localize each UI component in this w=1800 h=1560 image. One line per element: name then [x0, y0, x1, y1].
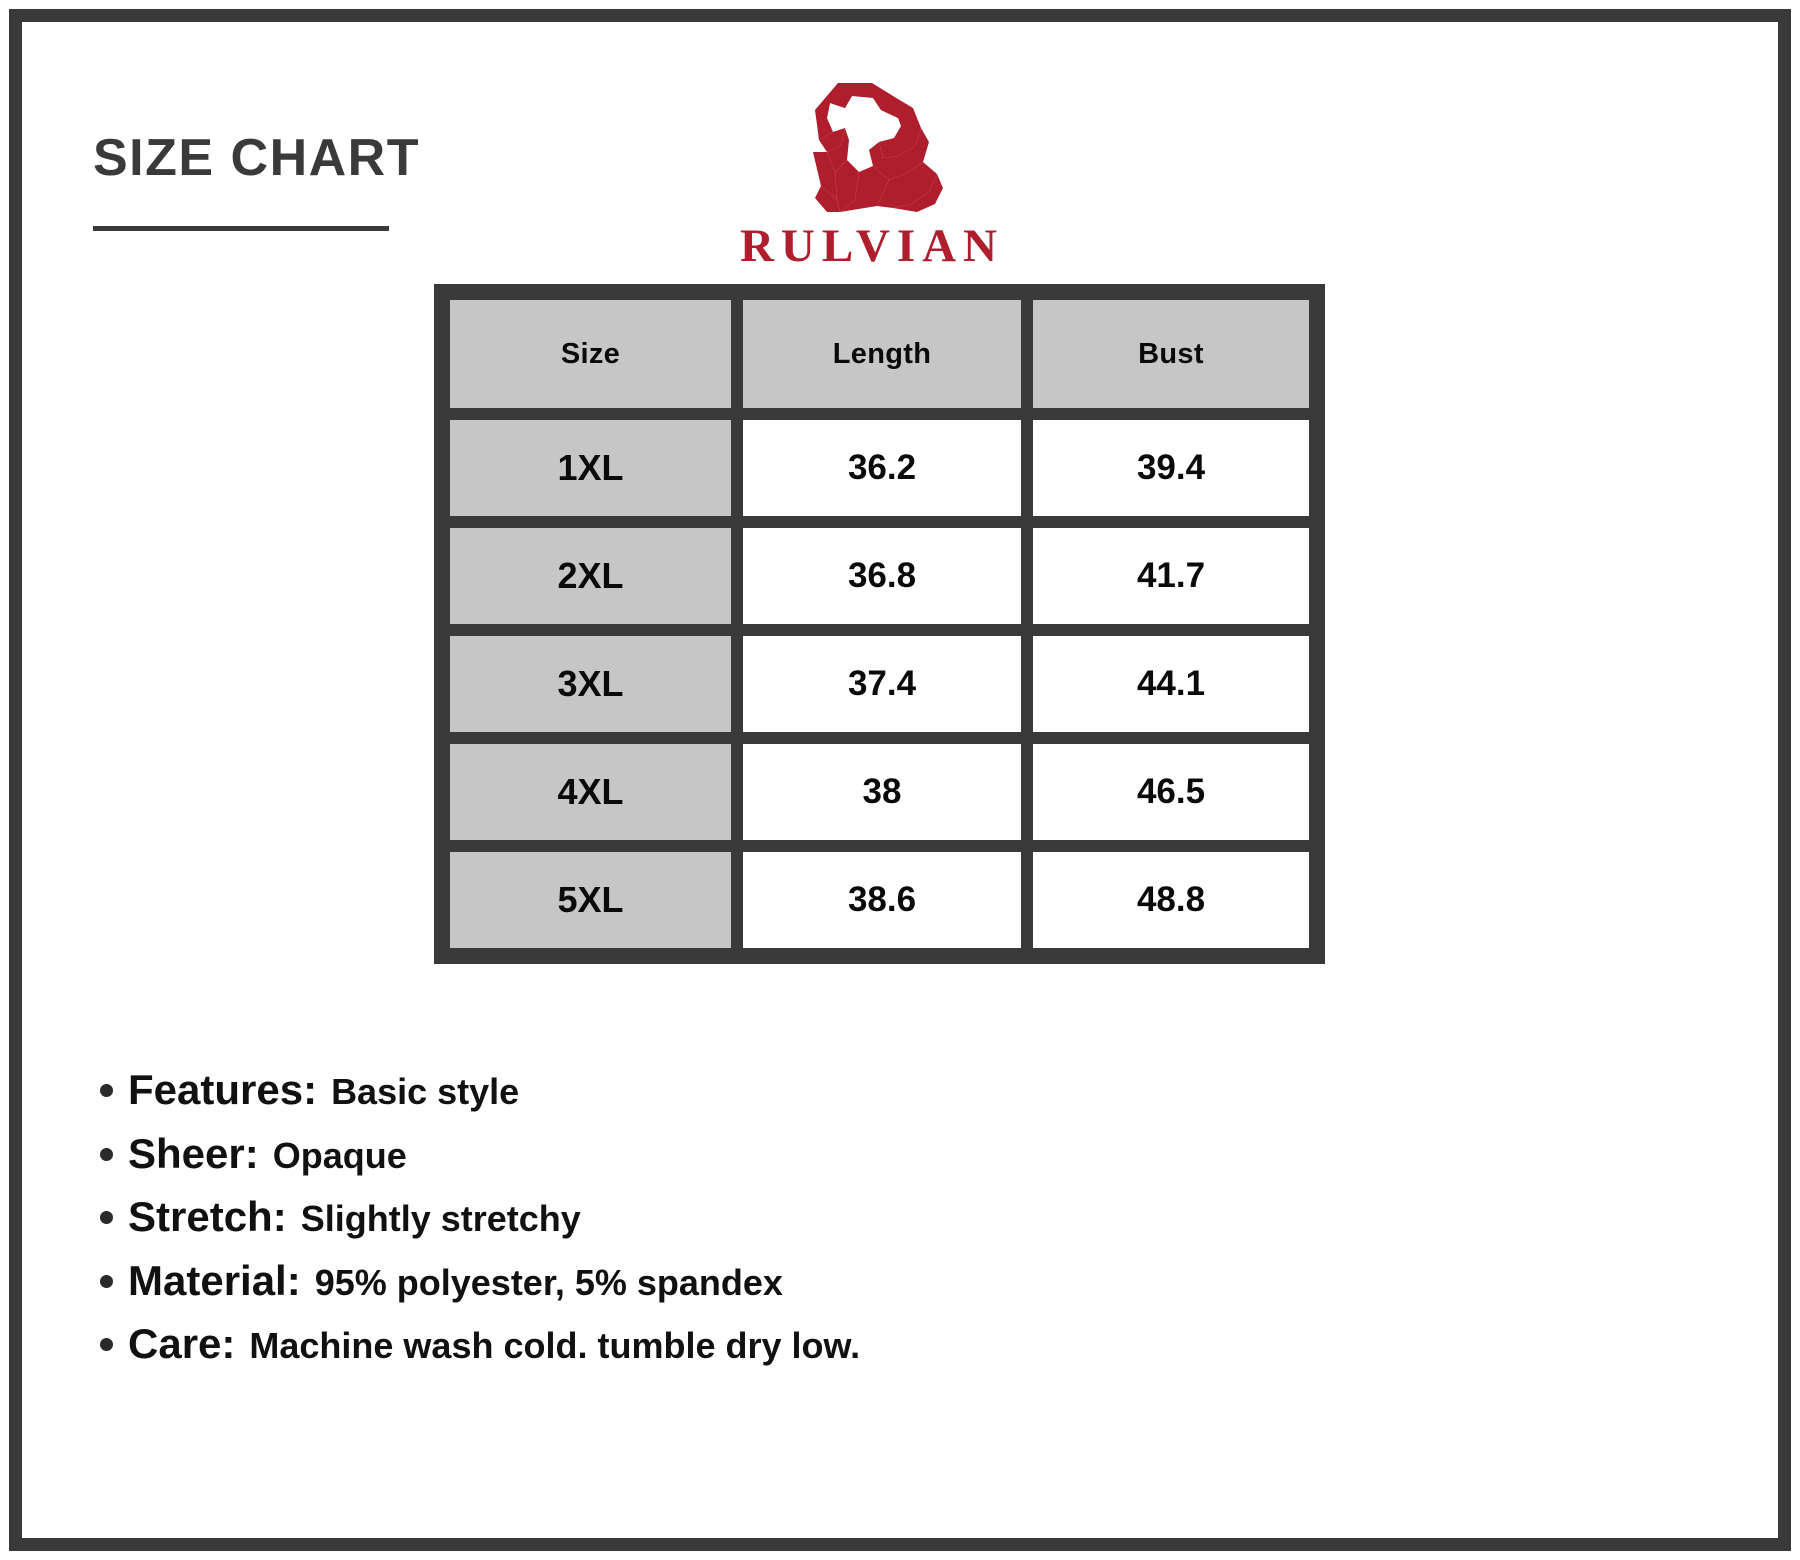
title-underline-divider: [93, 226, 389, 231]
brand-wordmark: RULVIAN: [682, 223, 1062, 270]
cell-size: 1XL: [444, 414, 737, 522]
info-label: Material:: [128, 1259, 301, 1304]
column-header-bust: Bust: [1027, 294, 1315, 414]
page-border-frame: SIZE CHART: [9, 9, 1791, 1551]
brand-logo-block: RULVIAN: [682, 80, 1062, 270]
cell-size: 3XL: [444, 630, 737, 738]
title-block: SIZE CHART: [93, 132, 513, 231]
cell-bust: 44.1: [1027, 630, 1315, 738]
cell-length: 38.6: [737, 846, 1027, 954]
cell-length: 38: [737, 738, 1027, 846]
list-item: Care: Machine wash cold. tumble dry low.: [100, 1322, 1300, 1367]
column-header-length: Length: [737, 294, 1027, 414]
cell-size: 2XL: [444, 522, 737, 630]
info-label: Care:: [128, 1322, 235, 1367]
table-row: 2XL 36.8 41.7: [444, 522, 1315, 630]
cell-bust: 41.7: [1027, 522, 1315, 630]
cell-bust: 39.4: [1027, 414, 1315, 522]
size-table-wrapper: Size Length Bust 1XL 36.2 39.4 2XL: [434, 284, 1325, 964]
cell-size: 5XL: [444, 846, 737, 954]
table-row: 4XL 38 46.5: [444, 738, 1315, 846]
table-row: 5XL 38.6 48.8: [444, 846, 1315, 954]
info-label: Features:: [128, 1068, 317, 1113]
bullet-dot-icon: [100, 1148, 113, 1161]
table-row: 1XL 36.2 39.4: [444, 414, 1315, 522]
list-item: Stretch: Slightly stretchy: [100, 1195, 1300, 1240]
size-chart-page: SIZE CHART: [0, 0, 1800, 1560]
info-label: Sheer:: [128, 1132, 259, 1177]
info-value: Basic style: [331, 1073, 519, 1111]
bullet-dot-icon: [100, 1338, 113, 1351]
cell-length: 37.4: [737, 630, 1027, 738]
column-header-size: Size: [444, 294, 737, 414]
rulvian-r-monogram-icon: [797, 80, 947, 215]
info-label: Stretch:: [128, 1195, 287, 1240]
cell-size: 4XL: [444, 738, 737, 846]
table-body: 1XL 36.2 39.4 2XL 36.8 41.7 3XL 37.4: [444, 414, 1315, 954]
product-info-list: Features: Basic style Sheer: Opaque Stre…: [100, 1068, 1300, 1386]
info-value: Opaque: [273, 1137, 407, 1175]
bullet-dot-icon: [100, 1211, 113, 1224]
page-title: SIZE CHART: [93, 132, 513, 184]
page-content: SIZE CHART: [22, 22, 1778, 1538]
list-item: Material: 95% polyester, 5% spandex: [100, 1259, 1300, 1304]
table-row: 3XL 37.4 44.1: [444, 630, 1315, 738]
table-header-row: Size Length Bust: [444, 294, 1315, 414]
size-chart-table: Size Length Bust 1XL 36.2 39.4 2XL: [434, 284, 1325, 964]
info-value: 95% polyester, 5% spandex: [315, 1264, 783, 1302]
info-value: Slightly stretchy: [301, 1200, 581, 1238]
bullet-dot-icon: [100, 1084, 113, 1097]
list-item: Sheer: Opaque: [100, 1132, 1300, 1177]
cell-length: 36.2: [737, 414, 1027, 522]
cell-length: 36.8: [737, 522, 1027, 630]
bullet-dot-icon: [100, 1275, 113, 1288]
cell-bust: 46.5: [1027, 738, 1315, 846]
table-header: Size Length Bust: [444, 294, 1315, 414]
info-value: Machine wash cold. tumble dry low.: [249, 1327, 860, 1365]
cell-bust: 48.8: [1027, 846, 1315, 954]
list-item: Features: Basic style: [100, 1068, 1300, 1113]
